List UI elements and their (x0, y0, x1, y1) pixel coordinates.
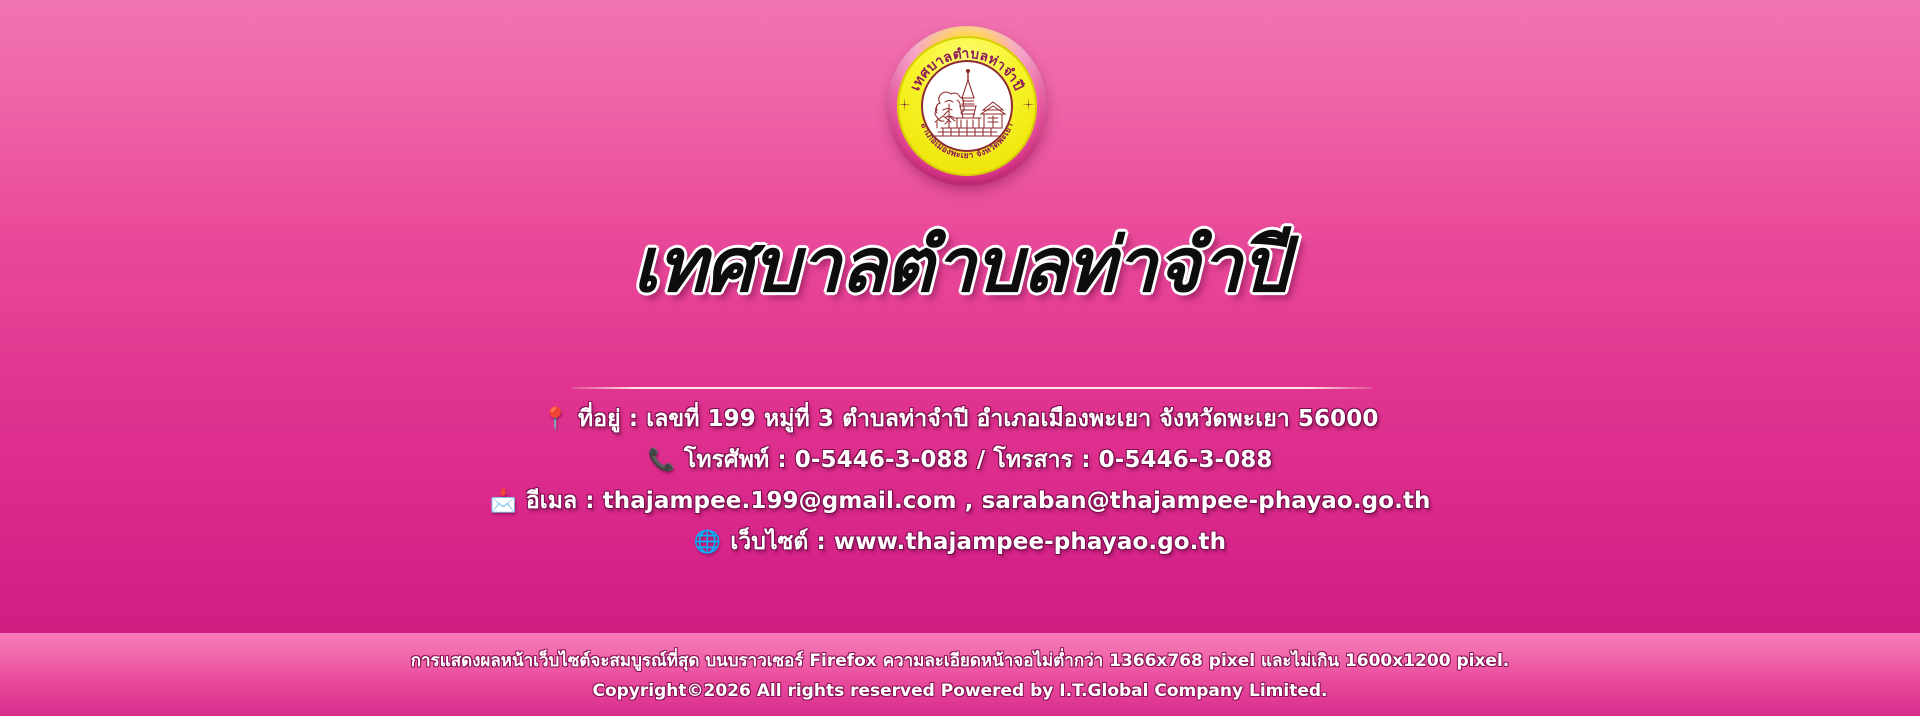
title-divider (572, 387, 1372, 389)
site-footer-page: เทศบาลตำบลท่าจำปี อำเภอเมืองพะเยา จังหวั… (0, 0, 1920, 716)
contact-row-email[interactable]: 📩 อีเมล : thajampee.199@gmail.com , sara… (0, 482, 1920, 520)
page-title: เทศบาลตำบลท่าจำปี (0, 226, 1920, 305)
envelope-icon: 📩 (489, 490, 516, 512)
browser-recommendation-text: การแสดงผลหน้าเว็บไซต์จะสมบูรณ์ที่สุด บนบ… (0, 646, 1920, 676)
footer-bar: การแสดงผลหน้าเว็บไซต์จะสมบูรณ์ที่สุด บนบ… (0, 633, 1920, 716)
contact-row-website[interactable]: 🌐 เว็บไซต์ : www.thajampee-phayao.go.th (0, 523, 1920, 561)
logo-star-right-icon (1022, 98, 1035, 111)
map-pin-icon: 📍 (542, 408, 569, 430)
globe-www-icon: 🌐 (694, 531, 721, 553)
address-text: ที่อยู่ : เลขที่ 199 หมู่ที่ 3 ตำบลท่าจำ… (578, 401, 1378, 437)
contact-row-phone: 📞 โทรศัพท์ : 0-5446-3-088 / โทรสาร : 0-5… (0, 441, 1920, 479)
website-text[interactable]: เว็บไซต์ : www.thajampee-phayao.go.th (730, 524, 1226, 560)
phone-fax-text: โทรศัพท์ : 0-5446-3-088 / โทรสาร : 0-544… (684, 442, 1273, 478)
logo-temple-emblem-icon (921, 60, 1013, 152)
logo-star-left-icon (898, 98, 911, 111)
email-text[interactable]: อีเมล : thajampee.199@gmail.com , saraba… (526, 483, 1431, 519)
copyright-text: Copyright©2026 All rights reserved Power… (0, 676, 1920, 706)
municipality-logo[interactable]: เทศบาลตำบลท่าจำปี อำเภอเมืองพะเยา จังหวั… (884, 24, 1050, 202)
telephone-icon: 📞 (647, 449, 674, 471)
contact-info-block: 📍 ที่อยู่ : เลขที่ 199 หมู่ที่ 3 ตำบลท่า… (0, 400, 1920, 564)
contact-row-address: 📍 ที่อยู่ : เลขที่ 199 หมู่ที่ 3 ตำบลท่า… (0, 400, 1920, 438)
